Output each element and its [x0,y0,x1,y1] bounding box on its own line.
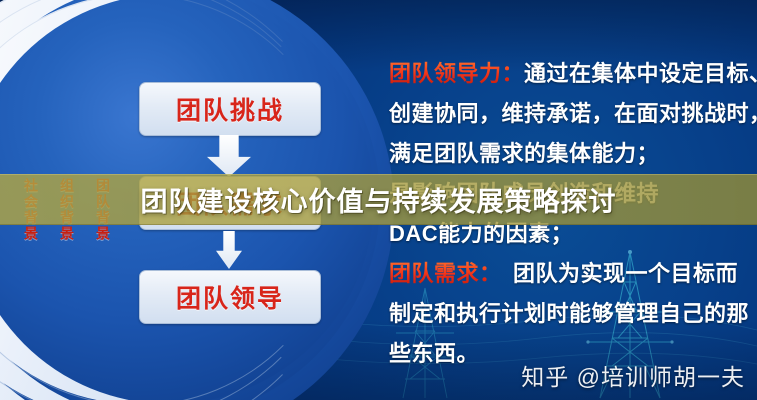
copy-text: 满足团队需求的集体能力； [389,141,659,166]
copy-line: 团队需求： 团队为实现一个目标而 [389,254,757,294]
copy-text: 制定和执行计划时能够管理自己的那 [389,301,749,326]
copy-text: 些东西。 [389,341,479,366]
flow-arrow-1 [139,136,319,176]
flow-box-challenge: 团队挑战 [139,82,321,136]
copy-line: 创建协同，维持承诺，在面对挑战时， [389,94,757,134]
copy-text: 创建协同，维持承诺，在面对挑战时， [389,101,757,126]
team-flow-diagram: 团队挑战 团队需求 团队领导 [139,82,319,370]
copy-text: 团队为实现一个目标而 [491,261,739,286]
copy-separator: ： [502,61,525,86]
copy-line: 制定和执行计划时能够管理自己的那 [389,294,757,334]
arrow-down-icon [207,135,251,177]
copy-line: 团队领导力：通过在集体中设定目标、 [389,54,757,94]
watermark-credit: 知乎 @培训师胡一夫 [521,358,745,392]
flow-box-leadership-label: 团队领导 [176,279,284,315]
copy-keyword: 团队需求 [389,261,479,286]
arrow-down-icon [216,231,242,269]
copy-keyword: 团队领导力 [389,61,502,86]
banner-title: 团队建设核心价值与持续发展策略探讨 [141,180,617,219]
flow-arrow-2 [139,230,319,270]
copy-separator: ： [479,261,491,286]
flow-box-leadership: 团队领导 [139,270,321,324]
flow-box-challenge-label: 团队挑战 [176,91,284,127]
slide-image: 社会背景 组织背景 团队背景 团队挑战 团队需求 团队领导 团队领导力：通过在集… [0,0,757,400]
copy-text: 通过在集体中设定目标、 [524,61,757,86]
title-banner: 团队建设核心价值与持续发展策略探讨 [0,174,757,225]
copy-line: 满足团队需求的集体能力； [389,134,757,174]
